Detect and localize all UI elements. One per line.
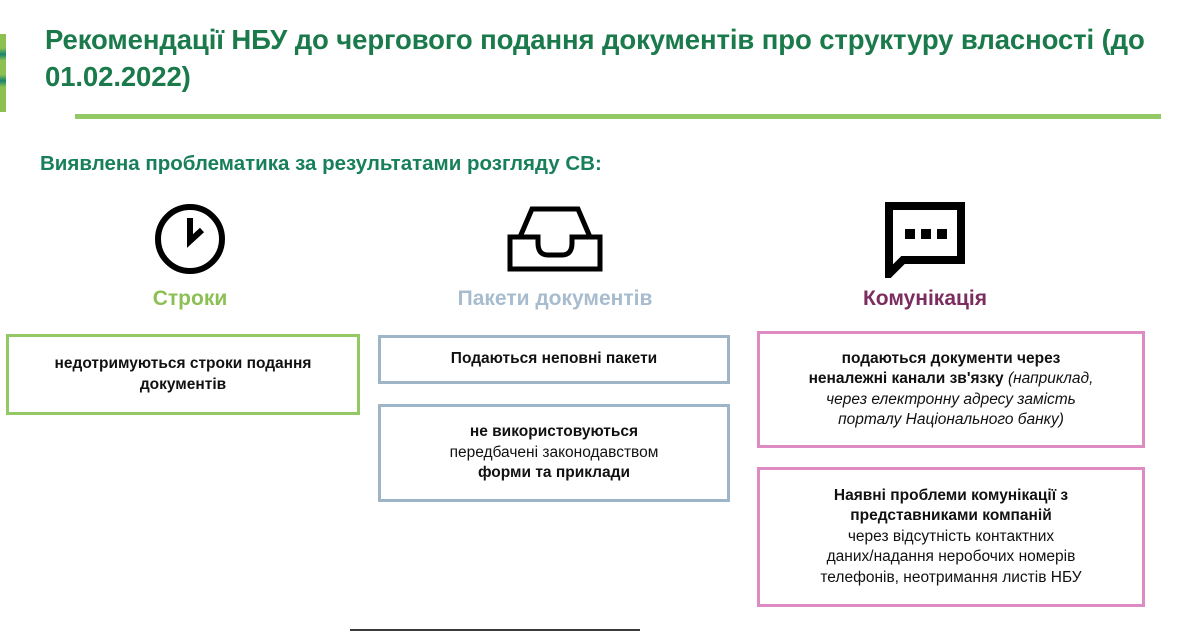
column-header-deadlines: Строки [90,198,290,310]
left-accent-bar [0,34,6,112]
issue-text-line: неналежні канали зв'язку [809,370,1004,387]
issue-text-line: недотримуються строки подання [55,355,312,372]
issue-box-improper-channels-text: подаються документи через неналежні кана… [799,349,1104,431]
issue-text-line: Наявні проблеми комунікації з [834,487,1068,504]
issue-box-incomplete-packages: Подаються неповні пакети [378,335,730,384]
issue-text-line: порталу Національного банку) [838,411,1064,428]
issue-text-line: Подаються неповні пакети [451,350,657,367]
clock-icon [90,198,290,280]
issue-text-line: форми та приклади [478,464,630,481]
issue-text-line: даних/надання неробочих номерів [827,548,1076,565]
issue-box-contact-problems: Наявні проблеми комунікації з представни… [757,467,1145,607]
issue-text-line: документів [140,376,226,393]
issue-box-contact-problems-text: Наявні проблеми комунікації з представни… [810,486,1091,588]
inbox-tray-icon [440,198,670,280]
issue-text-line: (наприклад, [1004,370,1094,387]
issue-box-forms-not-used: не використовуються передбачені законода… [378,404,730,502]
issue-text-line: представниками компаній [850,507,1051,524]
issue-text-line: через відсутність контактних [848,528,1054,545]
column-label-communication: Комунікація [810,287,1040,310]
slide-canvas: Рекомендації НБУ до чергового подання до… [0,0,1190,634]
issue-box-incomplete-packages-text: Подаються неповні пакети [441,349,667,369]
issue-box-deadlines: недотримуються строки подання документів [6,334,360,415]
issue-box-improper-channels: подаються документи через неналежні кана… [757,331,1145,448]
column-label-deadlines: Строки [90,287,290,310]
issue-box-deadlines-text: недотримуються строки подання документів [45,354,322,395]
issue-text-line: телефонів, неотримання листів НБУ [820,569,1081,586]
issue-box-forms-not-used-text: не використовуються передбачені законода… [440,422,669,483]
issue-text-line: через електронну адресу замість [826,391,1076,408]
footer-divider [350,629,640,631]
issue-text-line: подаються документи через [842,350,1061,367]
subtitle-heading: Виявлена проблематика за результатами ро… [40,152,602,176]
title-divider [75,114,1161,119]
column-header-communication: Комунікація [810,198,1040,310]
issue-text-line: не використовуються [470,423,638,440]
column-label-document-packages: Пакети документів [440,287,670,310]
page-title: Рекомендації НБУ до чергового подання до… [45,22,1155,95]
issue-text-line: передбачені законодавством [450,444,659,461]
speech-bubble-icon [810,198,1040,280]
column-header-document-packages: Пакети документів [440,198,670,310]
